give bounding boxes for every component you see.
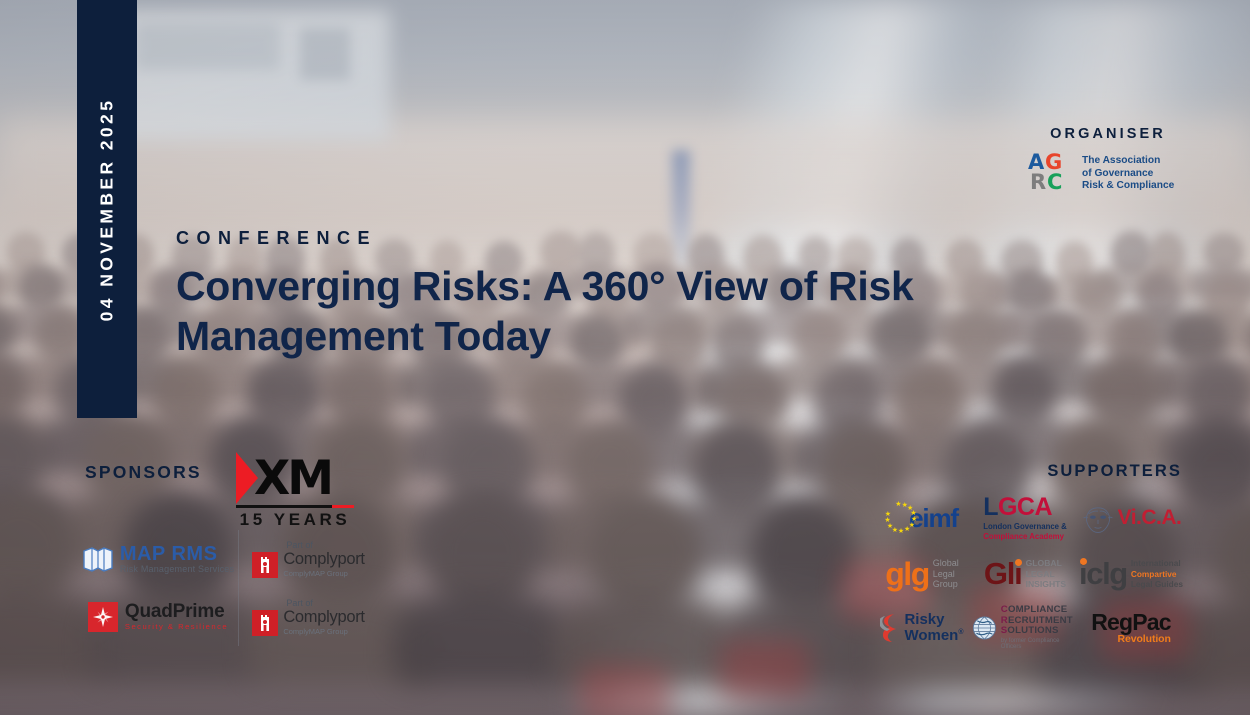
sponsor-logo-xm: XM 15 YEARS (236, 452, 354, 530)
date-bar: 04 NOVEMBER 2025 (77, 0, 137, 418)
supporter-logo-iclg: iclg International Compartive Legal Guid… (1078, 546, 1184, 602)
quadprime-compass-icon (88, 602, 118, 632)
complyport-part-of-label-2: Part of (286, 598, 313, 608)
agrc-monogram: A G R C (1028, 152, 1076, 196)
lgca-subtitle-line-1: London Governance & (983, 522, 1067, 531)
sponsor-logo-grid: MAP RMS Risk Management Services Part of (78, 530, 378, 646)
sponsor-logo-complyport-2: Part of Complyport ComplyMAP Group (238, 588, 378, 646)
gli-subtitle-line-1: GLOBAL (1026, 558, 1067, 569)
event-type-eyebrow: CONFERENCE (176, 228, 1016, 249)
supporter-logo-eimf: ★★★★★★★★★★★★ eimf (872, 490, 972, 546)
supporters-heading: SUPPORTERS (1047, 462, 1182, 481)
agrc-name-line-3: Risk & Compliance (1082, 180, 1174, 193)
map-rms-tagline: Risk Management Services (120, 565, 234, 574)
agrc-logo: A G R C The Association of Governance Ri… (1028, 152, 1188, 196)
glg-wordmark: glg (885, 560, 928, 588)
lgca-letter-l: L (983, 493, 998, 521)
title-block: CONFERENCE Converging Risks: A 360° View… (176, 228, 1016, 361)
globe-icon (972, 615, 997, 641)
xm-anniversary-label: 15 YEARS (236, 510, 354, 530)
vica-wordmark: Vi.C.A. (1118, 506, 1182, 530)
complyport-tower-icon-2 (252, 610, 278, 636)
gli-wordmark: Gli (984, 560, 1022, 588)
iclg-subtitle-line-3: Legal Guides (1131, 579, 1183, 589)
agrc-wordmark: The Association of Governance Risk & Com… (1082, 155, 1174, 193)
supporter-logo-glg: glg Global Legal Group (872, 546, 972, 602)
supporter-logo-vica: Vi.C.A. (1078, 490, 1184, 546)
xm-divider (236, 505, 354, 508)
glg-subtitle-line-2: Legal (933, 569, 959, 579)
crs-line-2-rest: ECRUITMENT (1008, 615, 1073, 626)
eu-stars-icon: ★★★★★★★★★★★★ (886, 503, 916, 533)
agrc-letter-c: C (1047, 172, 1062, 193)
face-line-art-icon (1081, 501, 1115, 535)
agrc-name-line-2: of Governance (1082, 168, 1174, 181)
agrc-name-line-1: The Association (1082, 155, 1174, 168)
glg-subtitle-line-1: Global (933, 558, 959, 568)
sponsors-heading: SPONSORS (85, 462, 202, 483)
conference-banner: 04 NOVEMBER 2025 CONFERENCE Converging R… (0, 0, 1250, 715)
sponsor-logo-complyport-1: Part of Complyport ComplyMAP Group (238, 530, 378, 588)
organiser-block: ORGANISER A G R C The Association of Gov… (1028, 126, 1188, 196)
gli-subtitle-line-3: INSIGHTS (1026, 579, 1067, 590)
crs-tagline: by former Compliance Officers (1001, 638, 1078, 651)
crs-line-3-rest: OLUTIONS (1007, 625, 1058, 636)
complyport-group-label-1: ComplyMAP Group (283, 569, 364, 578)
iclg-dot-icon (1080, 558, 1087, 565)
quadprime-tagline: Security & Resilience (125, 623, 228, 631)
supporter-logo-regpac: RegPac Revolution (1078, 602, 1184, 654)
organiser-heading: ORGANISER (1028, 126, 1188, 142)
risky-women-line-2: Women (904, 627, 958, 644)
iclg-wordmark: iclg (1079, 560, 1127, 588)
date-label: 04 NOVEMBER 2025 (97, 97, 118, 321)
lgca-letters-gca: GCA (998, 493, 1052, 521)
supporter-logo-gli: Gli GLOBAL LEGAL INSIGHTS (972, 546, 1078, 602)
tower-glyph (258, 556, 272, 574)
complyport-wordmark-1: Complyport (283, 551, 364, 568)
supporter-logo-risky-women: Risky Women® (872, 602, 972, 654)
regpac-wordmark: RegPac (1091, 611, 1171, 633)
ribbon-icon (880, 613, 900, 643)
iclg-subtitle-line-2: Compartive (1131, 569, 1183, 579)
iclg-subtitle-line-1: International (1131, 558, 1183, 568)
risky-women-line-1: Risky (904, 612, 963, 628)
complyport-part-of-label-1: Part of (286, 540, 313, 550)
complyport-group-label-2: ComplyMAP Group (283, 627, 364, 636)
complyport-tower-icon-1 (252, 552, 278, 578)
tower-glyph (258, 614, 272, 632)
sponsor-logo-map-rms: MAP RMS Risk Management Services (78, 530, 238, 588)
open-map-icon (82, 546, 114, 572)
gli-subtitle-line-2: LEGAL (1026, 569, 1067, 580)
supporter-logo-lgca: LGCA London Governance & Compliance Acad… (972, 490, 1078, 546)
quadprime-wordmark: QuadPrime (125, 602, 228, 623)
gli-dot-icon (1015, 559, 1022, 566)
compass-rose-glyph (92, 606, 114, 628)
sponsor-logo-quadprime: QuadPrime Security & Resilience (78, 588, 238, 646)
map-rms-wordmark: MAP RMS (120, 544, 234, 565)
glg-subtitle-line-3: Group (933, 579, 959, 589)
supporter-logo-grid: ★★★★★★★★★★★★ eimf LGCA London Governance… (872, 490, 1184, 654)
page-title: Converging Risks: A 360° View of Risk Ma… (176, 261, 1006, 361)
complyport-wordmark-2: Complyport (283, 609, 364, 626)
crs-line-1-rest: OMPLIANCE (1008, 604, 1067, 615)
risky-women-trademark: ® (958, 629, 963, 636)
agrc-letter-r: R (1030, 172, 1046, 193)
supporter-logo-crs: COMPLIANCE RECRUITMENT SOLUTIONS by form… (972, 602, 1078, 654)
xm-wordmark: XM (254, 455, 331, 502)
lgca-subtitle-line-2: Compliance Academy (983, 532, 1064, 541)
